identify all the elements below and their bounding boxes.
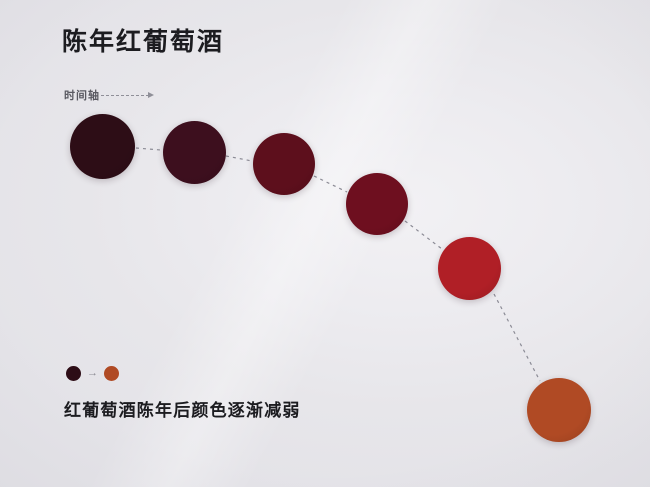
wine-color-node-1: [70, 114, 135, 179]
wine-color-node-3: [253, 133, 315, 195]
legend-swatch-start: [66, 366, 81, 381]
caption-text: 红葡萄酒陈年后颜色逐渐减弱: [64, 396, 301, 421]
slide-canvas: 陈年红葡萄酒 时间轴 → 红葡萄酒陈年后颜色逐渐减弱: [0, 0, 650, 487]
wine-color-node-5: [438, 237, 501, 300]
legend-arrow-icon: →: [87, 368, 98, 379]
wine-color-node-6: [527, 378, 591, 442]
connector-line-3: [314, 176, 347, 192]
arrow-right-icon: [148, 92, 154, 98]
connector-line-2: [226, 156, 252, 161]
connector-line-5: [494, 294, 540, 381]
legend-swatch-end: [104, 366, 119, 381]
page-title: 陈年红葡萄酒: [62, 22, 224, 58]
wine-color-node-4: [346, 173, 408, 235]
wine-color-node-2: [163, 121, 226, 184]
timeline-dashed-line: [101, 95, 149, 96]
legend: →: [66, 366, 119, 381]
connector-line-1: [136, 148, 161, 150]
timeline-axis: 时间轴: [64, 87, 154, 103]
timeline-axis-label: 时间轴: [64, 87, 100, 103]
connector-line-4: [405, 221, 442, 249]
